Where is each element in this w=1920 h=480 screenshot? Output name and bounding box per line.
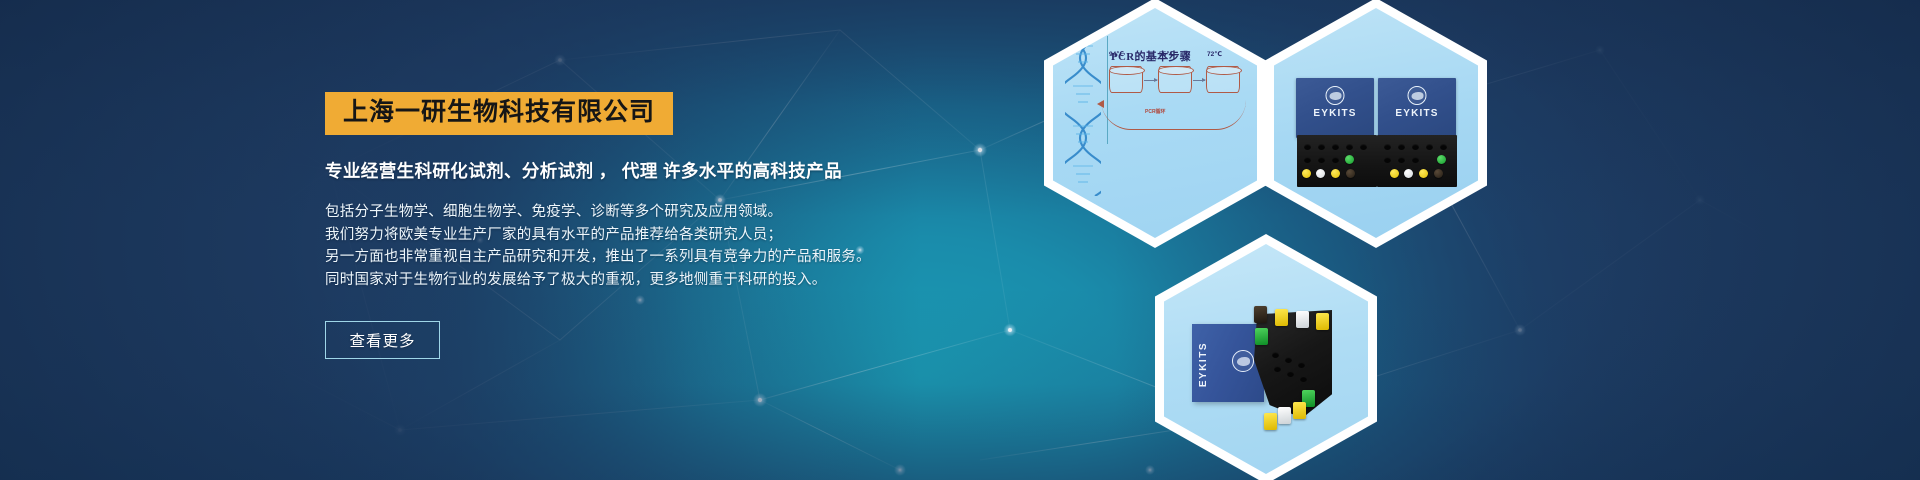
- rack-hole: [1318, 144, 1325, 150]
- vial-cap: [1316, 169, 1325, 178]
- pcr-cycle-arrow-icon: [1101, 100, 1246, 130]
- pcr-diagram-image: PCR的基本步骤 94℃ 55℃ 72℃ PCR循环: [1053, 8, 1257, 238]
- banner-description: 包括分子生物学、细胞生物学、免疫学、诊断等多个研究及应用领域。 我们努力将欧美专…: [325, 201, 965, 291]
- eykits-logo-icon: [1232, 350, 1254, 372]
- brand-label: EYKITS: [1378, 108, 1456, 119]
- vial-cap: [1404, 169, 1413, 178]
- description-line: 我们努力将欧美专业生产厂家的具有水平的产品推荐给各类研究人员；: [325, 224, 965, 247]
- foam-rack: [1377, 135, 1457, 187]
- pcr-reaction-tube: [1109, 66, 1143, 93]
- reagent-vial: [1275, 309, 1288, 326]
- pcr-step-arrow-icon: [1193, 80, 1205, 81]
- rack-hole: [1398, 144, 1405, 150]
- rack-hole: [1384, 144, 1391, 150]
- rack-hole: [1426, 144, 1433, 150]
- opened-product-kit: EYKITS: [1192, 306, 1342, 431]
- reagent-vial: [1254, 306, 1267, 323]
- hexagon-opened-kit[interactable]: EYKITS: [1155, 234, 1377, 480]
- hexagon-pcr-diagram[interactable]: PCR的基本步骤 94℃ 55℃ 72℃ PCR循环: [1044, 0, 1266, 248]
- description-line: 同时国家对于生物行业的发展给予了极大的重视，更多地侧重于科研的投入。: [325, 269, 965, 292]
- rack-hole: [1287, 371, 1294, 377]
- rack-hole: [1360, 144, 1367, 150]
- rack-hole: [1300, 376, 1307, 382]
- rack-hole: [1285, 357, 1292, 363]
- vial-cap: [1419, 169, 1428, 178]
- reagent-vial: [1293, 402, 1306, 419]
- rack-hole: [1318, 157, 1325, 163]
- vial-cap: [1302, 169, 1311, 178]
- rack-hole: [1298, 362, 1305, 368]
- view-more-button[interactable]: 查看更多: [325, 321, 440, 359]
- vial-cap: [1345, 155, 1354, 164]
- pcr-cycle-label: PCR循环: [1145, 108, 1166, 115]
- pcr-temperature-label: 94℃: [1109, 50, 1124, 58]
- rack-hole: [1440, 144, 1447, 150]
- description-line: 另一方面也非常重视自主产品研究和开发，推出了一系列具有竞争力的产品和服务。: [325, 246, 965, 269]
- banner-subtitle: 专业经营生科研化试剂、分析试剂 ， 代理 许多水平的高科技产品: [325, 158, 965, 183]
- vial-cap: [1390, 169, 1399, 178]
- company-title-badge: 上海一研生物科技有限公司: [325, 92, 673, 135]
- hexagon-kit-boxes[interactable]: EYKITS EYKITS: [1265, 0, 1487, 248]
- hero-banner: 上海一研生物科技有限公司 专业经营生科研化试剂、分析试剂 ， 代理 许多水平的高…: [0, 0, 1920, 480]
- product-box-pair: EYKITS EYKITS: [1296, 78, 1456, 188]
- eykits-logo-icon: [1408, 86, 1427, 105]
- kit-boxes-image: EYKITS EYKITS: [1274, 8, 1478, 238]
- product-box: EYKITS: [1378, 78, 1456, 138]
- reagent-vial: [1264, 413, 1277, 430]
- rack-hole: [1332, 144, 1339, 150]
- rack-hole: [1304, 144, 1311, 150]
- description-line: 包括分子生物学、细胞生物学、免疫学、诊断等多个研究及应用领域。: [325, 201, 965, 224]
- pcr-reaction-tube: [1158, 66, 1192, 93]
- reagent-vial: [1296, 311, 1309, 328]
- rack-hole: [1398, 157, 1405, 163]
- pcr-cycle-arrowhead-icon: [1097, 100, 1104, 108]
- rack-hole: [1274, 366, 1281, 372]
- rack-hole: [1412, 144, 1419, 150]
- hexagon-image-cluster: PCR的基本步骤 94℃ 55℃ 72℃ PCR循环: [1040, 0, 1460, 480]
- brand-label: EYKITS: [1198, 342, 1209, 387]
- banner-content: 上海一研生物科技有限公司 专业经营生科研化试剂、分析试剂 ， 代理 许多水平的高…: [325, 92, 965, 359]
- rack-hole: [1272, 352, 1279, 358]
- reagent-vial: [1278, 407, 1291, 424]
- product-box: EYKITS: [1296, 78, 1374, 138]
- vial-cap: [1434, 169, 1443, 178]
- foam-rack: [1297, 135, 1377, 187]
- pcr-temperature-label: 72℃: [1207, 50, 1222, 58]
- rack-hole: [1304, 157, 1311, 163]
- pcr-temperature-label: 55℃: [1159, 50, 1174, 58]
- rack-hole: [1332, 157, 1339, 163]
- reagent-vial: [1316, 313, 1329, 330]
- vial-cap: [1346, 169, 1355, 178]
- pcr-axis-line: [1107, 36, 1108, 144]
- vial-cap: [1437, 155, 1446, 164]
- rack-hole: [1384, 157, 1391, 163]
- opened-kit-image: EYKITS: [1164, 244, 1368, 474]
- vial-cap: [1331, 169, 1340, 178]
- eykits-logo-icon: [1326, 86, 1345, 105]
- pcr-step-arrow-icon: [1144, 80, 1157, 81]
- rack-hole: [1412, 157, 1419, 163]
- pcr-reaction-tube: [1206, 66, 1240, 93]
- brand-label: EYKITS: [1296, 108, 1374, 119]
- rack-hole: [1346, 144, 1353, 150]
- reagent-vial: [1255, 328, 1268, 345]
- dna-helix-icon: [1065, 38, 1101, 196]
- kit-lid: EYKITS: [1192, 324, 1264, 402]
